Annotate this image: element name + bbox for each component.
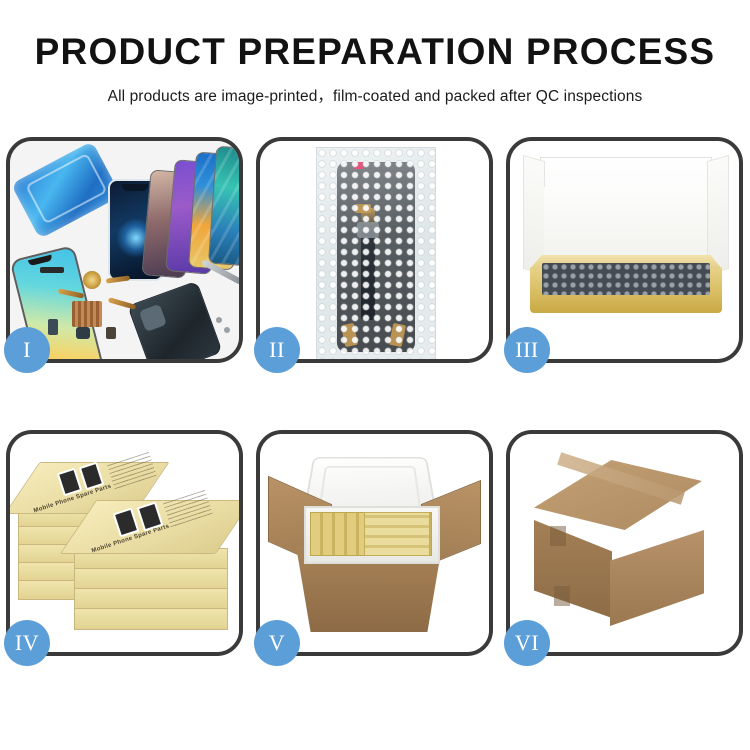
header: PRODUCT PREPARATION PROCESS All products… [0,0,750,106]
panel-open-inner-box-image [510,141,739,359]
stacked-box-r4 [74,608,228,630]
step-badge-4: IV [4,620,50,666]
screen-film-icon [11,141,121,239]
speaker-part-icon [40,267,64,273]
process-step-panel-2: II [256,137,493,363]
process-step-panel-1: I [6,137,243,363]
carton-tab-bottom-icon [554,586,570,606]
panel-stacked-boxes-image: Mobile Phone Spare Parts Mobile Phone Sp… [10,434,239,652]
bubble-wrap-contents-icon [542,263,710,295]
phone-back-housing-icon [127,281,223,359]
screw-1-icon [216,317,222,323]
page-subtitle: All products are image-printed，film-coat… [0,84,750,106]
box-stack-icon: Mobile Phone Spare Parts Mobile Phone Sp… [18,452,233,647]
bubble-texture-icon [317,148,435,359]
bubble-bag-icon [316,147,436,359]
flex-cable-3-icon [108,297,136,310]
copper-coil-icon [83,271,101,289]
process-step-panel-4: Mobile Phone Spare Parts Mobile Phone Sp… [6,430,243,656]
process-step-panel-3: III [506,137,743,363]
process-step-panel-6: VI [506,430,743,656]
carton-left-face-icon [534,520,612,618]
page-title: PRODUCT PREPARATION PROCESS [0,32,750,73]
carton-tab-top-icon [550,526,566,546]
panel-parts-assortment-image [10,141,239,359]
chip-array-icon [72,301,102,327]
step-badge-6: VI [504,620,550,666]
stacked-box-r3 [74,588,228,610]
panel-sealed-carton-image [510,434,739,652]
stacked-box-r2 [74,568,228,590]
process-step-grid: I II [6,137,744,737]
small-part-2-icon [76,327,90,339]
process-step-panel-5: V [256,430,493,656]
panel-bubble-wrapped-screen-image [260,141,489,359]
small-part-3-icon [106,327,116,339]
step-badge-1: I [4,327,50,373]
step-badge-2: II [254,327,300,373]
small-part-1-icon [48,319,58,335]
step-badge-5: V [254,620,300,666]
step-badge-3: III [504,327,550,373]
packed-boxes-stack-icon [364,512,430,556]
screw-2-icon [224,327,230,333]
carton-right-face-icon [610,530,704,626]
panel-foam-carton-image [260,434,489,652]
product-preparation-infographic: PRODUCT PREPARATION PROCESS All products… [0,0,750,750]
